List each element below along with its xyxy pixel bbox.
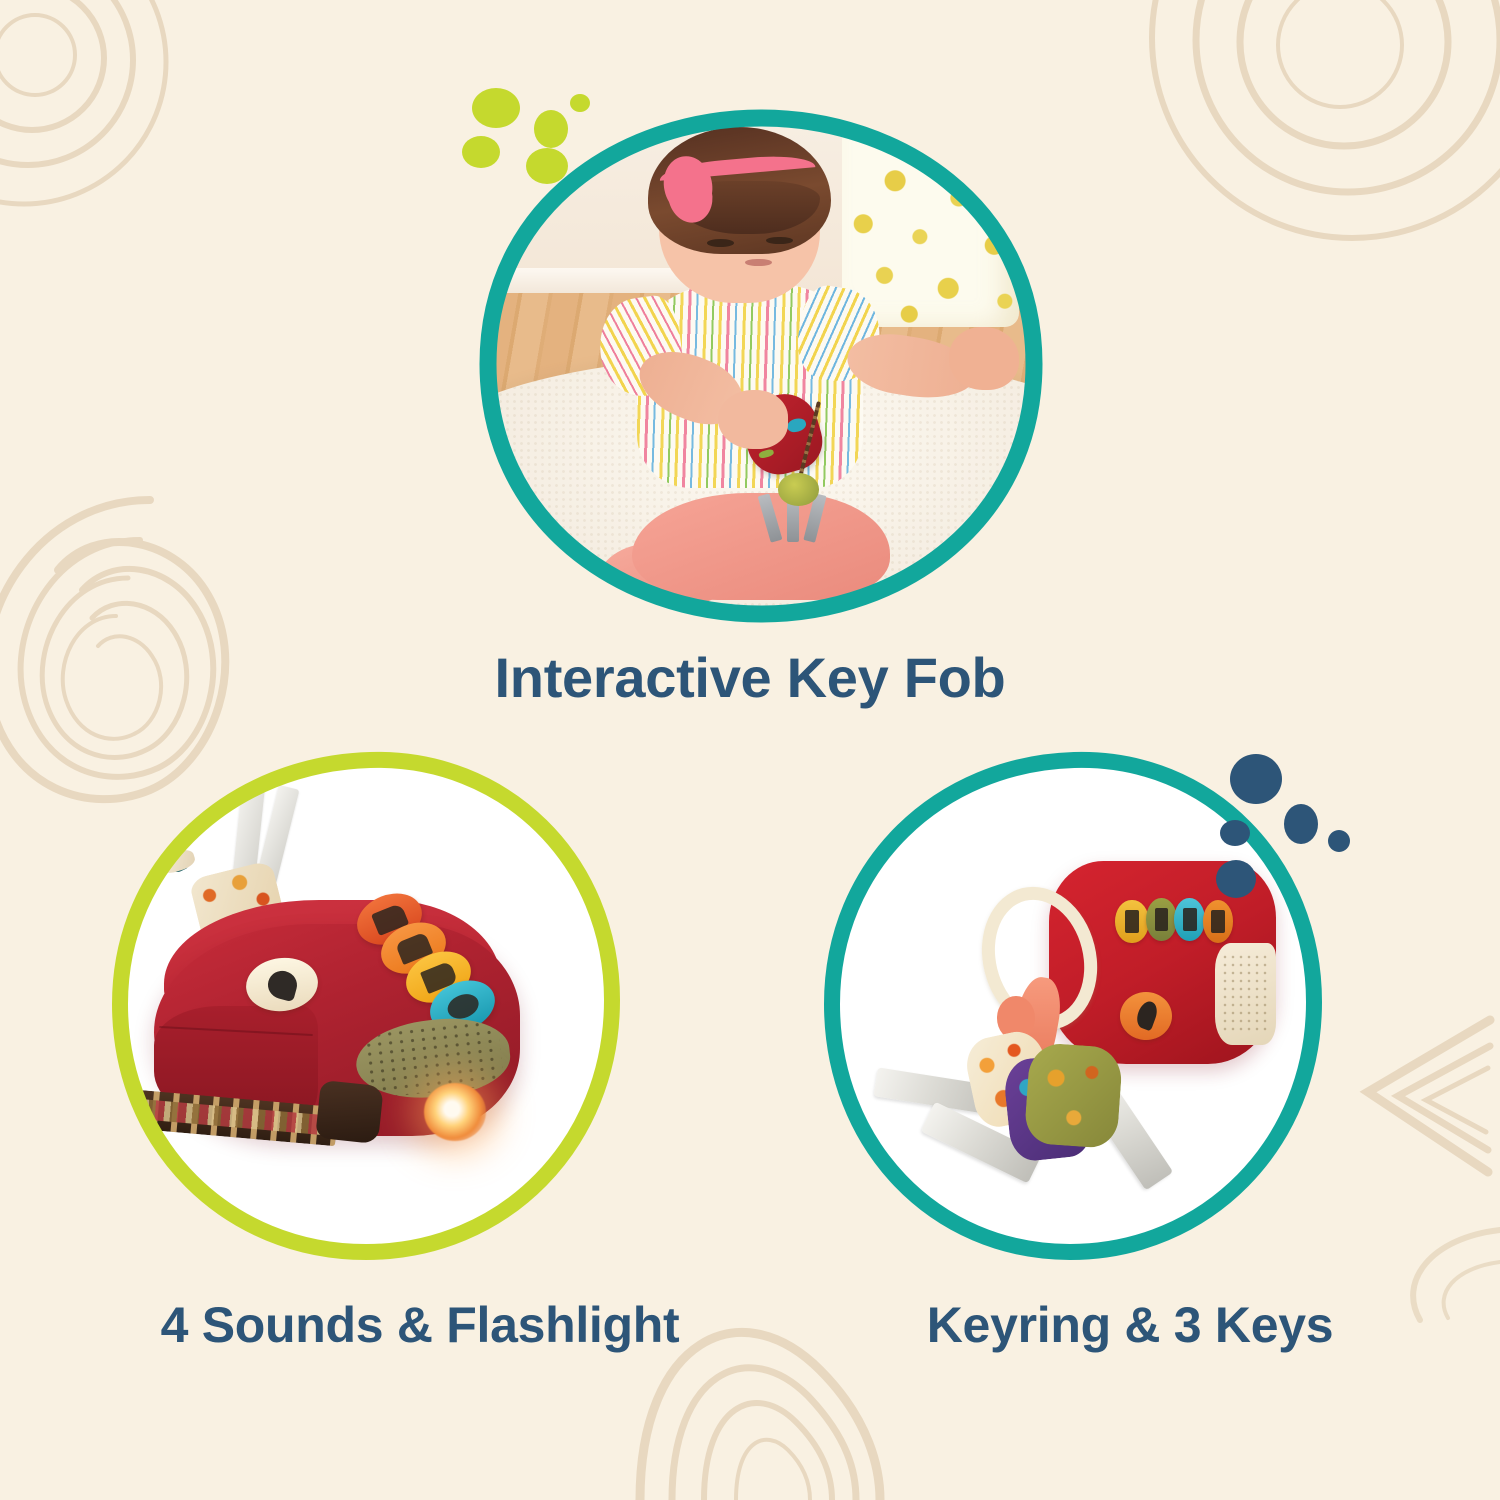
caption-sounds-and-flashlight: 4 Sounds & Flashlight bbox=[20, 1296, 820, 1354]
dot-2 bbox=[1284, 804, 1318, 844]
panel-sounds-and-flashlight bbox=[112, 752, 620, 1260]
caption-keyring-and-keys: Keyring & 3 Keys bbox=[760, 1296, 1500, 1354]
dot-3 bbox=[462, 136, 500, 168]
dot-2 bbox=[534, 110, 568, 148]
dot-1 bbox=[1230, 754, 1282, 804]
accent-dots-navy bbox=[1212, 742, 1392, 902]
dot-5 bbox=[570, 94, 590, 112]
accent-dots-lime bbox=[442, 86, 602, 216]
dot-3 bbox=[1220, 820, 1250, 846]
dot-4 bbox=[526, 148, 568, 184]
panel-keyring-and-keys bbox=[824, 752, 1322, 1260]
panel-interactive-key-fob bbox=[478, 108, 1044, 624]
dot-1 bbox=[472, 88, 520, 128]
infographic-canvas: Interactive Key Fob bbox=[0, 0, 1500, 1500]
dot-5 bbox=[1216, 860, 1256, 898]
page-title: Interactive Key Fob bbox=[0, 645, 1500, 710]
dot-4 bbox=[1328, 830, 1350, 852]
lime-blob-frame bbox=[112, 752, 620, 1260]
